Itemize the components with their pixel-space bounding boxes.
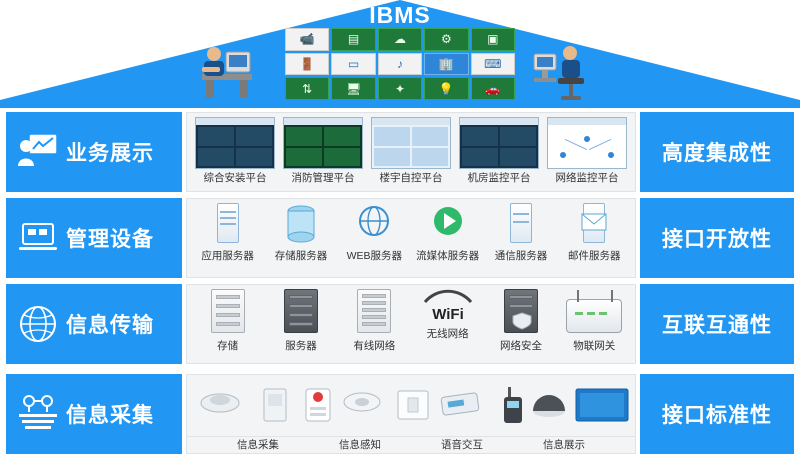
list-item[interactable]: 存储服务器 [264, 203, 337, 263]
feature-badge-standard-interface: 接口标准性 [640, 374, 794, 454]
roof-header: IBMS 📹 ▤ ☁ ⚙ ▣ 🚪 ▭ ♪ 🏢 ⌨ ⇅ 🖥 ✦ 💡 🚗 [0, 0, 800, 108]
item-caption: 网络监控平台 [543, 170, 631, 185]
list-item[interactable] [490, 387, 516, 427]
window-icon: ▣ [471, 28, 515, 51]
wifi-icon: WiFi [419, 289, 477, 323]
datacenter-thumbnail [459, 117, 539, 169]
list-item[interactable]: 综合安装平台 [191, 117, 279, 185]
wired-network-rack-icon [357, 289, 391, 333]
cloud-icon: ☁ [378, 28, 422, 51]
page-title: IBMS [0, 2, 800, 29]
sidebar-label-information-collection: 信息采集 [66, 399, 154, 429]
sidebar-label-information-transmission: 信息传输 [66, 309, 154, 339]
business-display-items: 综合安装平台 消防管理平台 楼宇自控平台 机房监控平台 [187, 113, 635, 191]
item-caption: 有线网络 [338, 338, 411, 353]
list-item[interactable] [525, 387, 561, 427]
information-collection-panel: 信息采集 信息感知 语音交互 信息展示 [186, 374, 636, 454]
sidebar-label-management-devices: 管理设备 [66, 223, 154, 253]
storage-rack-icon [211, 289, 245, 333]
monitor-icon: 🖥 [331, 77, 375, 100]
item-caption: 存储 [191, 338, 264, 353]
list-item[interactable]: 应用服务器 [191, 203, 264, 263]
list-item[interactable]: 消防管理平台 [279, 117, 367, 185]
operator-at-desk-illustration [196, 40, 258, 102]
list-item[interactable] [436, 387, 480, 427]
gear-icon: ⚙ [424, 28, 468, 51]
list-item[interactable] [570, 387, 626, 427]
list-item[interactable]: 网络安全 [484, 289, 557, 353]
information-transmission-items: 存储 服务器 有线网络 [187, 285, 635, 363]
item-caption: 机房监控平台 [455, 170, 543, 185]
lamp-icon: 💡 [424, 77, 468, 100]
storage-cylinder-icon [284, 203, 318, 247]
router-icon [566, 299, 622, 333]
list-item[interactable]: 有线网络 [338, 289, 411, 353]
ceiling-speaker-icon [338, 387, 386, 427]
feature-label: 互联互通性 [662, 309, 772, 339]
item-caption: 综合安装平台 [191, 170, 279, 185]
feature-label: 接口开放性 [662, 223, 772, 253]
list-item[interactable] [251, 387, 285, 427]
card-reader-icon: ▭ [331, 53, 375, 76]
list-item[interactable] [338, 387, 380, 427]
feature-badge-open-interface: 接口开放性 [640, 198, 794, 278]
sidebar-item-information-collection[interactable]: 信息采集 [6, 374, 182, 454]
item-caption: 存储服务器 [264, 248, 337, 263]
list-item[interactable] [196, 387, 242, 427]
dome-camera-icon [525, 387, 573, 427]
shield-rack-icon [504, 289, 538, 333]
layer-row-business-display: 业务展示 综合安装平台 消防管理平台 楼宇自控平台 [0, 112, 800, 192]
alarm-panel-icon [294, 387, 342, 427]
layer-row-management-devices: 管理设备 应用服务器 存储服务器 [0, 198, 800, 278]
list-item[interactable]: WiFi 无线网络 [411, 289, 484, 341]
door-sensor-icon [251, 387, 299, 427]
information-collection-captions: 信息采集 信息感知 语音交互 信息展示 [187, 437, 635, 452]
smoke-detector-icon [196, 387, 244, 427]
item-caption: 信息采集 [237, 437, 279, 452]
item-caption: 信息展示 [543, 437, 585, 452]
sidebar-label-business-display: 业务展示 [66, 137, 154, 167]
sidebar-item-business-display[interactable]: 业务展示 [6, 112, 182, 192]
item-caption: 网络安全 [484, 338, 557, 353]
list-item[interactable]: 网络监控平台 [543, 117, 631, 185]
roof-icon-grid: 📹 ▤ ☁ ⚙ ▣ 🚪 ▭ ♪ 🏢 ⌨ ⇅ 🖥 ✦ 💡 🚗 [285, 28, 515, 100]
item-caption: 消防管理平台 [279, 170, 367, 185]
information-transmission-panel: 存储 服务器 有线网络 [186, 284, 636, 364]
elevator-icon: ⇅ [285, 77, 329, 100]
music-note-icon: ♪ [378, 53, 422, 76]
feature-label: 接口标准性 [662, 399, 772, 429]
building-icon: 🏢 [424, 53, 468, 76]
fire-panel-thumbnail [283, 117, 363, 169]
list-item[interactable]: 存储 [191, 289, 264, 353]
list-item[interactable]: WEB服务器 [338, 203, 411, 263]
app-server-icon [211, 203, 245, 247]
keypad-icon: ⌨ [471, 53, 515, 76]
list-item[interactable]: 邮件服务器 [558, 203, 631, 263]
mail-server-icon [577, 203, 611, 247]
sidebar-item-management-devices[interactable]: 管理设备 [6, 198, 182, 278]
globe-icon [16, 302, 60, 346]
management-devices-items: 应用服务器 存储服务器 [187, 199, 635, 277]
presentation-person-icon [16, 130, 60, 174]
server-rack-icon [284, 289, 318, 333]
fan-icon: ✦ [378, 77, 422, 100]
feature-badge-interconnection: 互联互通性 [640, 284, 794, 364]
item-caption: 服务器 [264, 338, 337, 353]
play-button-icon [431, 203, 465, 247]
display-screen-icon [574, 387, 622, 427]
list-item[interactable]: 机房监控平台 [455, 117, 543, 185]
item-caption: 邮件服务器 [558, 248, 631, 263]
bas-thumbnail [371, 117, 451, 169]
item-caption: 应用服务器 [191, 248, 264, 263]
list-item[interactable]: 流媒体服务器 [411, 203, 484, 263]
feature-label: 高度集成性 [662, 137, 772, 167]
list-item[interactable]: 物联网关 [558, 289, 631, 353]
item-caption: WEB服务器 [338, 248, 411, 263]
management-devices-panel: 应用服务器 存储服务器 [186, 198, 636, 278]
cctv-camera-icon: 📹 [285, 28, 329, 51]
wall-switch-icon [389, 387, 437, 427]
operator-seated-illustration [528, 38, 588, 102]
list-item[interactable] [294, 387, 328, 427]
layer-row-information-collection: 信息采集 [0, 374, 800, 454]
comm-server-icon [504, 203, 538, 247]
layer-row-information-transmission: 信息传输 存储 服务器 [0, 284, 800, 364]
list-item[interactable] [389, 387, 427, 427]
business-display-panel: 综合安装平台 消防管理平台 楼宇自控平台 机房监控平台 [186, 112, 636, 192]
list-item[interactable]: 通信服务器 [484, 203, 557, 263]
svg-text:WiFi: WiFi [432, 306, 464, 323]
network-topology-thumbnail [547, 117, 627, 169]
list-item[interactable]: 楼宇自控平台 [367, 117, 455, 185]
list-item[interactable]: 服务器 [264, 289, 337, 353]
laptop-icon [16, 216, 60, 260]
item-caption: 信息感知 [339, 437, 381, 452]
sensor-network-icon [16, 392, 60, 436]
card-reader-icon [436, 387, 484, 427]
item-caption: 通信服务器 [484, 248, 557, 263]
green-panel-icon: ▤ [331, 28, 375, 51]
door-icon: 🚪 [285, 53, 329, 76]
feature-badge-integration: 高度集成性 [640, 112, 794, 192]
video-wall-thumbnail [195, 117, 275, 169]
sidebar-item-information-transmission[interactable]: 信息传输 [6, 284, 182, 364]
item-caption: 语音交互 [441, 437, 483, 452]
item-caption: 流媒体服务器 [411, 248, 484, 263]
car-icon: 🚗 [471, 77, 515, 100]
globe-server-icon [357, 203, 391, 247]
item-caption: 物联网关 [558, 338, 631, 353]
item-caption: 无线网络 [411, 326, 484, 341]
item-caption: 楼宇自控平台 [367, 170, 455, 185]
